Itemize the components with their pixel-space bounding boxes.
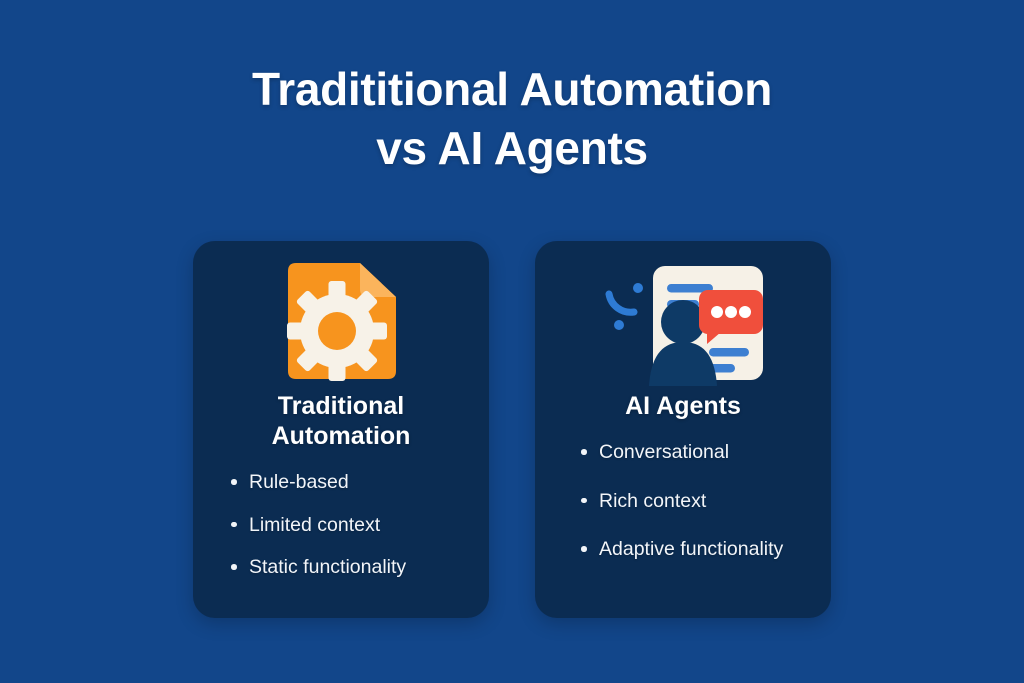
accent-arc-icon [609,294,634,312]
card-title-line-1: Traditional [272,391,411,421]
accent-dot-icon [633,283,643,293]
person-chat-document-icon [597,260,769,386]
feature-list-ai-agents: Conversational Rich context Adaptive fun… [551,439,815,585]
card-title-ai-agents: AI Agents [625,391,741,421]
feature-list-traditional-automation: Rule-based Limited context Static functi… [209,469,473,597]
list-item: Adaptive functionality [579,536,815,563]
card-title-line-2: Automation [272,421,411,451]
list-item: Rich context [579,488,815,515]
slide-canvas: Tradititional Automation vs AI Agents [0,0,1024,683]
card-title-line-1: AI Agents [625,391,741,421]
person-chat-document-icon-wrap [597,257,769,389]
text-line [709,348,749,357]
list-item: Limited context [229,512,473,539]
list-item: Rule-based [229,469,473,496]
card-ai-agents[interactable]: AI Agents Conversational Rich context Ad… [535,241,831,618]
document-gear-icon [282,261,400,385]
list-item: Static functionality [229,554,473,581]
list-item: Conversational [579,439,815,466]
accent-dot-icon [614,320,624,330]
page-title-line-2: vs AI Agents [0,119,1024,178]
document-gear-icon-wrap [282,257,400,389]
card-title-traditional-automation: Traditional Automation [272,391,411,451]
card-traditional-automation[interactable]: Traditional Automation Rule-based Limite… [193,241,489,618]
page-title: Tradititional Automation vs AI Agents [0,60,1024,178]
comparison-card-row: Traditional Automation Rule-based Limite… [0,241,1024,618]
page-title-line-1: Tradititional Automation [0,60,1024,119]
